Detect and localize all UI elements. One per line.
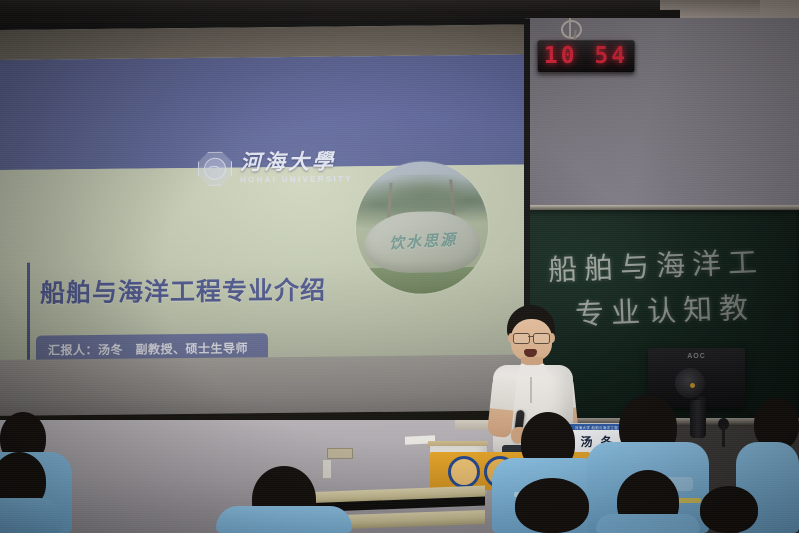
university-crest-icon bbox=[196, 150, 232, 186]
wall-outlet bbox=[327, 448, 353, 459]
university-name-en: HOHAI UNIVERSITY bbox=[240, 175, 353, 184]
photo-projection-veil bbox=[356, 161, 488, 294]
campus-stone-photo: 饮水思源 bbox=[356, 161, 488, 294]
presenter-shirt-placket bbox=[530, 377, 532, 403]
lecture-hall-scene: 船舶与海洋工 专业认知教 10 54 河海大學 HOHAI UNIV bbox=[0, 0, 799, 533]
banner-emblem-icon bbox=[448, 456, 480, 488]
digital-clock: 10 54 bbox=[537, 40, 635, 73]
gooseneck-microphone bbox=[722, 425, 725, 447]
clock-hook-icon bbox=[561, 20, 582, 39]
glasses-bridge bbox=[528, 336, 533, 337]
monitor-brand-label: AOC bbox=[687, 353, 706, 360]
student-shirt bbox=[216, 506, 352, 533]
clock-time-display: 10 54 bbox=[544, 45, 628, 68]
university-name-cn: 河海大學 bbox=[240, 150, 353, 172]
university-wordmark: 河海大學 HOHAI UNIVERSITY bbox=[240, 150, 353, 184]
hohai-university-logo: 河海大學 HOHAI UNIVERSITY bbox=[196, 148, 353, 186]
presentation-slide: 河海大學 HOHAI UNIVERSITY 饮水思源 船舶与海洋工程专业介绍 汇… bbox=[0, 55, 524, 390]
student-head bbox=[700, 486, 758, 533]
clock-hanger-wire bbox=[569, 18, 571, 38]
wall-switch bbox=[322, 459, 332, 479]
student-head bbox=[515, 478, 589, 533]
slide-presenter-text: 汇报人：汤冬 副教授、硕士生导师 bbox=[48, 339, 248, 358]
monitor-mount-bolt bbox=[690, 383, 695, 388]
slide-title: 船舶与海洋工程专业介绍 bbox=[40, 271, 326, 310]
student-shirt bbox=[0, 498, 62, 533]
glasses-lens-left-icon bbox=[513, 333, 530, 344]
slide-title-accent-bar bbox=[27, 263, 30, 361]
student-shirt bbox=[596, 514, 700, 533]
monitor-stand bbox=[690, 400, 706, 438]
glasses-lens-right-icon bbox=[533, 333, 550, 344]
placard-header-text: 河海大学 船舶与海洋工程 bbox=[575, 425, 618, 430]
